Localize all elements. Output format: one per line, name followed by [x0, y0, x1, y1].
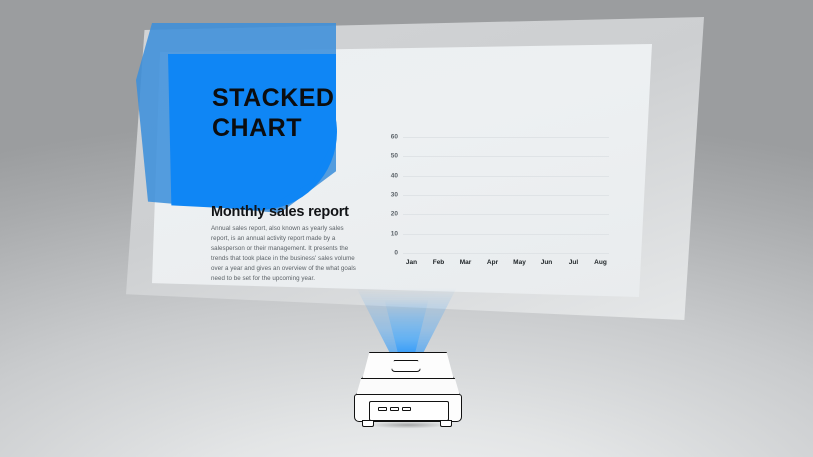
slide-title-line-2: CHART [212, 114, 392, 144]
chart-y-tick-label: 50 [391, 153, 398, 160]
projector-button[interactable] [378, 407, 387, 411]
projector-front-panel [369, 401, 449, 421]
chart-gridline: 30 [403, 195, 609, 196]
chart-gridline: 0 [403, 253, 609, 254]
chart-y-tick-label: 30 [391, 192, 398, 199]
chart-x-tick-label: Mar [460, 259, 472, 266]
chart-y-tick-label: 20 [391, 211, 398, 218]
projector-button[interactable] [390, 407, 399, 411]
chart-plot-area: JanFebMarAprMayJunJulAug 0102030405060 [403, 138, 609, 254]
chart-gridline: 40 [403, 176, 609, 177]
slide-title-line-1: STACKED [212, 84, 392, 114]
chart-x-tick-label: Apr [487, 259, 498, 266]
slide-body-text: Annual sales report, also known as yearl… [211, 224, 359, 284]
chart-x-tick-label: May [513, 259, 526, 266]
projector-foot-right [440, 420, 452, 427]
projector-button[interactable] [402, 407, 411, 411]
projector-top-panel [362, 352, 454, 380]
lens-icon [391, 360, 421, 372]
chart-gridline: 60 [403, 137, 609, 138]
slide-title: STACKED CHART [212, 84, 392, 143]
chart-gridline: 50 [403, 156, 609, 157]
chart-y-tick-label: 40 [391, 172, 398, 179]
projector-body [354, 394, 462, 422]
chart-x-tick-label: Jul [569, 259, 578, 266]
projector-foot-left [362, 420, 374, 427]
chart-gridline: 10 [403, 234, 609, 235]
slide-subtitle: Monthly sales report [211, 204, 381, 220]
chart-y-tick-label: 0 [394, 250, 398, 257]
projector-device[interactable] [348, 350, 468, 432]
projection-stage: STACKED CHART Monthly sales report Annua… [0, 0, 813, 457]
chart-x-tick-label: Feb [433, 259, 445, 266]
chart-y-tick-label: 10 [391, 230, 398, 237]
projector-button-group[interactable] [378, 407, 411, 411]
chart-y-tick-label: 60 [391, 134, 398, 141]
chart-gridline: 20 [403, 214, 609, 215]
chart-x-tick-label: Aug [594, 259, 607, 266]
chart-x-tick-label: Jun [541, 259, 553, 266]
chart-x-tick-label: Jan [406, 259, 417, 266]
stacked-bar-chart: JanFebMarAprMayJunJulAug 0102030405060 [373, 132, 623, 278]
